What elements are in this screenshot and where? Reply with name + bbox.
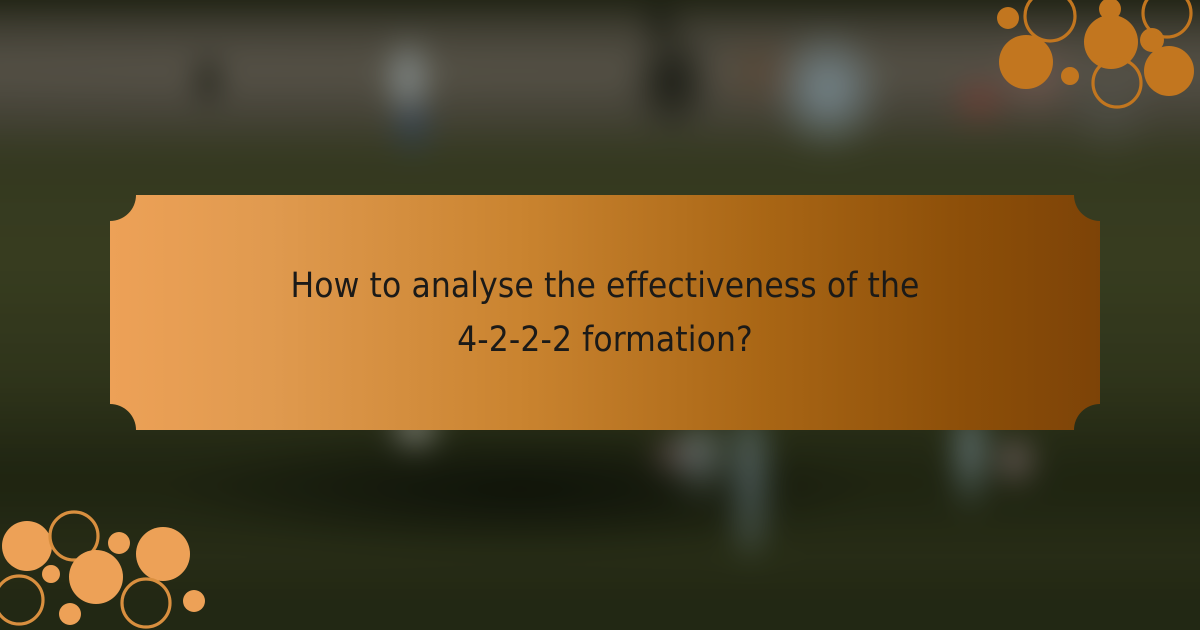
social-card-canvas: How to analyse the effectiveness of the …: [0, 0, 1200, 630]
headline-text: How to analyse the effectiveness of the …: [245, 259, 965, 367]
headline-card: How to analyse the effectiveness of the …: [110, 195, 1100, 430]
